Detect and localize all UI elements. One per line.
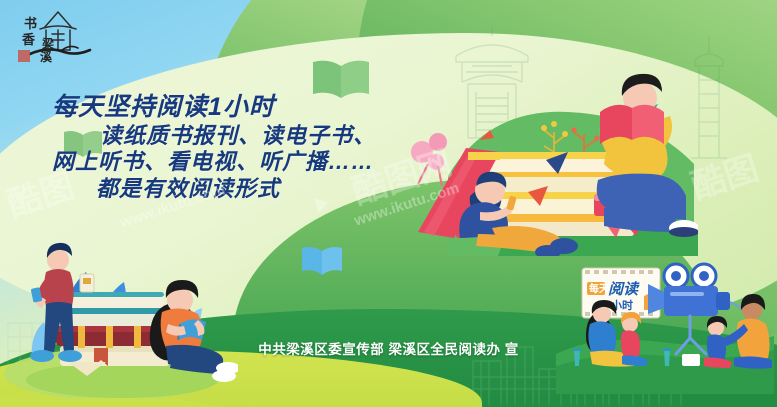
- illustration-outdoor-cinema: 每天 阅读 一小时: [556, 262, 774, 394]
- logo-seal-icon: [18, 50, 30, 62]
- badge-main-text: 阅读: [608, 280, 640, 298]
- illustration-readers-on-books: [408, 56, 698, 256]
- logo-char-1: 书: [24, 16, 37, 32]
- flower-cluster-icon: [411, 133, 447, 186]
- open-book-blue-icon: [300, 244, 344, 276]
- credit-line: 中共梁溪区委宣传部 梁溪区全民阅读办 宣: [0, 338, 777, 358]
- logo-char-2: 香: [21, 32, 36, 48]
- logo-char-4: 溪: [40, 49, 53, 64]
- logo-char-3: 梁: [41, 36, 54, 51]
- illustration-readers-left: [2, 238, 238, 398]
- brand-logo: 书 香 梁 溪: [12, 6, 104, 68]
- reading-campaign-poster: 书 香 梁 溪 每天坚持阅读1小时 读纸质书报刊、读电子书、 网上听书、看电视、…: [0, 0, 777, 407]
- badge-prefix-text: 每天: [589, 282, 610, 295]
